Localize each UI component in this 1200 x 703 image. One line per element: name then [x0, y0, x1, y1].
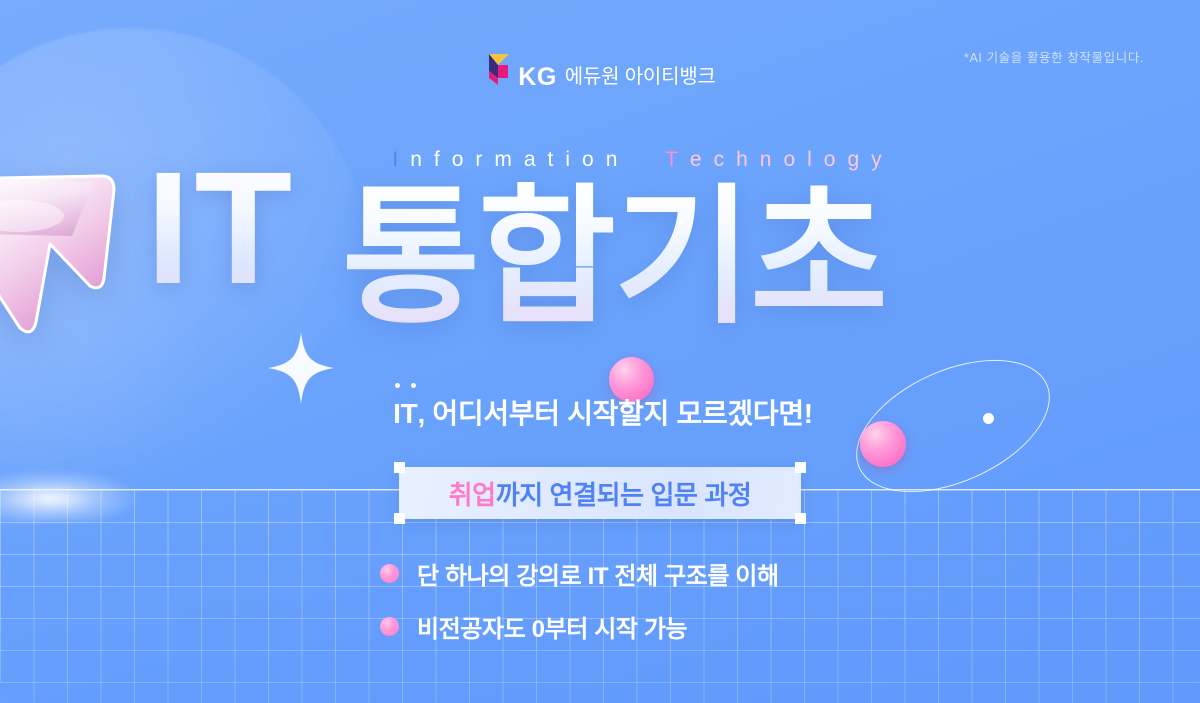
selection-handle-top-right [795, 462, 806, 473]
highlight-banner-box: 취업까지 연결되는 입문 과정 [399, 467, 801, 519]
bullet-text: 비전공자도 0부터 시작 가능 [417, 609, 687, 644]
bullet-dot-icon [380, 564, 399, 583]
subtitle-lead: IT [393, 398, 417, 430]
highlight-rest-text: 까지 연결되는 입문 과정 [496, 480, 752, 510]
hero-title-korean: 통합기초 [342, 182, 886, 332]
eyebrow-information-technology: Information Technology [0, 148, 1200, 172]
subtitle: IT, 어디서부터 시작할지 모르겠다면! [0, 392, 1200, 432]
eyebrow-technology-rest: echnology [690, 148, 894, 171]
selection-handle-bottom-right [795, 513, 806, 524]
highlight-banner: 취업까지 연결되는 입문 과정 [399, 467, 801, 519]
list-item: 단 하나의 강의로 IT 전체 구조를 이해 [380, 556, 820, 591]
list-item: 비전공자도 0부터 시작 가능 [380, 609, 820, 644]
promo-banner: *AI 기술을 활용한 창작물입니다. KG 에듀원 아이티뱅크 Informa… [0, 0, 1200, 703]
3d-cursor-arrow-icon [0, 158, 132, 354]
brand-abbr: KG [518, 65, 557, 90]
eyebrow-i-letter: I [392, 148, 410, 171]
brand-name: 에듀원 아이티뱅크 [565, 66, 716, 89]
highlight-banner-text: 취업까지 연결되는 입문 과정 [449, 475, 752, 512]
bullet-text: 단 하나의 강의로 IT 전체 구조를 이해 [417, 556, 779, 591]
subtitle-rest: , 어디서부터 시작할지 모르겠다면! [417, 398, 812, 429]
selection-handle-bottom-left [394, 513, 405, 524]
kg-flag-logo-icon [484, 52, 510, 88]
bullet-dot-icon [380, 617, 399, 636]
feature-bullet-list: 단 하나의 강의로 IT 전체 구조를 이해 비전공자도 0부터 시작 가능 [0, 556, 1200, 644]
eyebrow-t-letter: T [665, 148, 690, 171]
highlight-accent-word: 취업 [449, 480, 496, 510]
eyebrow-information-rest: nformation [410, 148, 629, 171]
brand-lockup: KG 에듀원 아이티뱅크 [0, 52, 1200, 90]
selection-handle-top-left [394, 462, 405, 473]
